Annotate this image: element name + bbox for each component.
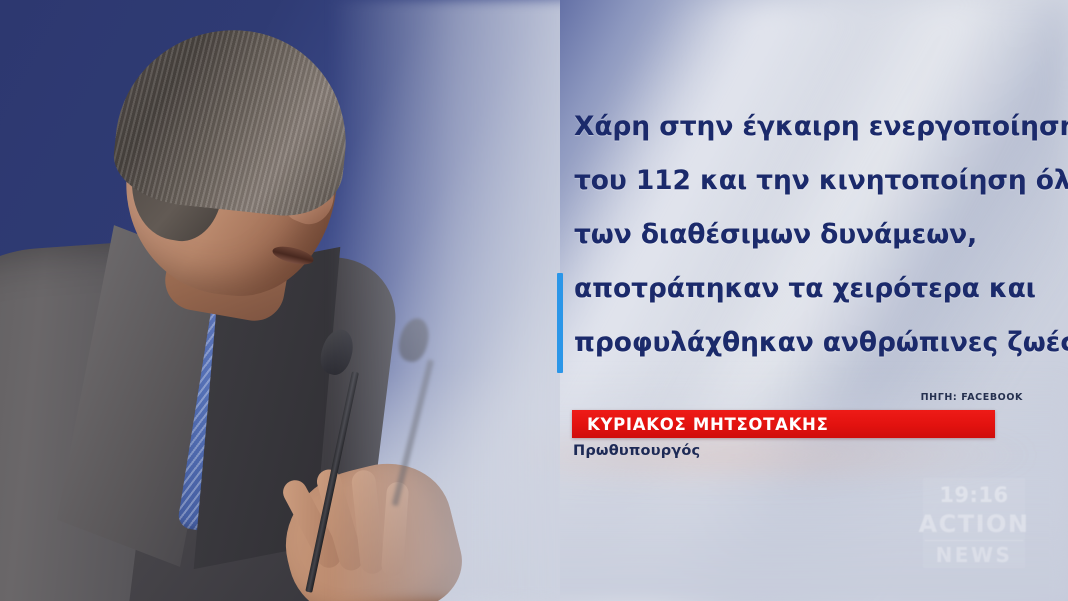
channel-logo-news: NEWS: [921, 541, 1027, 569]
quote-line-5: προφυλάχθηκαν ανθρώπινες ζωές.: [556, 316, 1026, 370]
channel-watermark: 19:16 ACTION NEWS: [921, 478, 1027, 570]
broadcast-frame: Χάρη στην έγκαιρη ενεργοποίηση του 112 κ…: [0, 0, 1068, 601]
quote-accent-bar: [557, 273, 563, 373]
quote-line-4: αποτράπηκαν τα χειρότερα και: [556, 262, 1026, 316]
quote-line-1: Χάρη στην έγκαιρη ενεργοποίηση: [556, 100, 1026, 154]
on-screen-clock: 19:16: [929, 480, 1019, 510]
speaker-photo: [0, 0, 560, 601]
speaker-name-bar: ΚΥΡΙΑΚΟΣ ΜΗΤΣΟΤΑΚΗΣ: [572, 410, 995, 438]
source-attribution: ΠΗΓΗ: FACEBOOK: [921, 392, 1023, 403]
speaker-name: ΚΥΡΙΑΚΟΣ ΜΗΤΣΟΤΑΚΗΣ: [572, 415, 829, 434]
quote-block: Χάρη στην έγκαιρη ενεργοποίηση του 112 κ…: [556, 100, 1026, 370]
quote-line-2: του 112 και την κινητοποίηση όλων: [556, 154, 1026, 208]
channel-logo-action: ACTION: [921, 508, 1027, 540]
quote-line-3: των διαθέσιμων δυνάμεων,: [556, 208, 1026, 262]
photo-edge-fade: [330, 0, 560, 601]
speaker-role: Πρωθυπουργός: [573, 443, 700, 459]
hair: [109, 18, 357, 221]
